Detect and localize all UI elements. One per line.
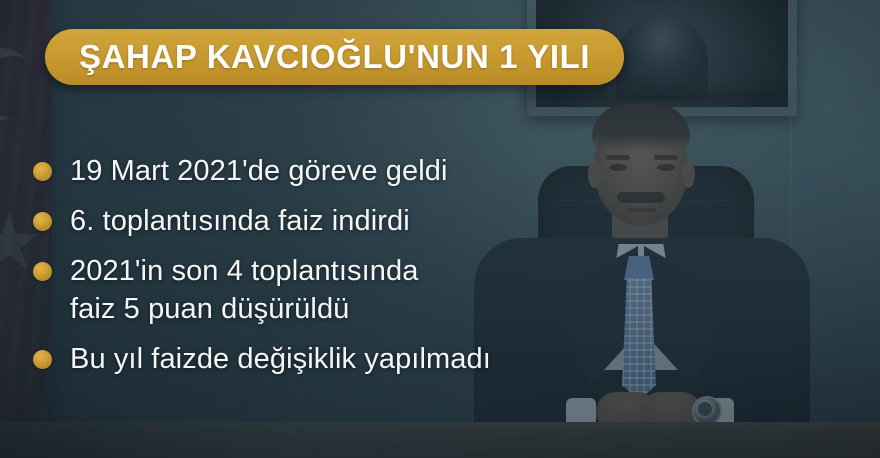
hair bbox=[592, 104, 690, 150]
mouth bbox=[626, 208, 656, 212]
eye-left bbox=[609, 164, 627, 171]
bullet-dot-icon bbox=[33, 262, 52, 281]
bullet-dot-icon bbox=[33, 350, 52, 369]
eyebrow-right bbox=[654, 155, 678, 160]
list-item-text: 6. toplantısında faiz indirdi bbox=[70, 202, 410, 240]
list-item-text: Bu yıl faizde değişiklik yapılmadı bbox=[70, 340, 491, 378]
list-item-line: 2021'in son 4 toplantısında bbox=[70, 252, 418, 290]
list-item-line: faiz 5 puan düşürüldü bbox=[70, 290, 418, 328]
bullet-dot-icon bbox=[33, 212, 52, 231]
infographic-card: ŞAHAP KAVCIOĞLU'NUN 1 YILI 19 Mart 2021'… bbox=[0, 0, 880, 458]
list-item-line: 6. toplantısında faiz indirdi bbox=[70, 202, 410, 240]
ear-left bbox=[588, 160, 601, 188]
list-item: 6. toplantısında faiz indirdi bbox=[33, 202, 533, 240]
page-title: ŞAHAP KAVCIOĞLU'NUN 1 YILI bbox=[79, 38, 590, 76]
list-item: 19 Mart 2021'de göreve geldi bbox=[33, 152, 533, 190]
necktie bbox=[622, 278, 656, 400]
desk-sheen bbox=[0, 422, 880, 458]
bullet-list: 19 Mart 2021'de göreve geldi 6. toplantı… bbox=[33, 152, 533, 390]
wristwatch-face bbox=[698, 402, 712, 416]
headline-banner: ŞAHAP KAVCIOĞLU'NUN 1 YILI bbox=[45, 29, 624, 85]
mustache bbox=[617, 192, 665, 203]
eye-right bbox=[657, 164, 675, 171]
list-item: Bu yıl faizde değişiklik yapılmadı bbox=[33, 340, 533, 378]
list-item-line: 19 Mart 2021'de göreve geldi bbox=[70, 152, 448, 190]
list-item-line: Bu yıl faizde değişiklik yapılmadı bbox=[70, 340, 491, 378]
ear-right bbox=[682, 160, 695, 188]
eyebrow-left bbox=[606, 155, 630, 160]
bullet-dot-icon bbox=[33, 162, 52, 181]
list-item-text: 2021'in son 4 toplantısında faiz 5 puan … bbox=[70, 252, 418, 328]
list-item-text: 19 Mart 2021'de göreve geldi bbox=[70, 152, 448, 190]
list-item: 2021'in son 4 toplantısında faiz 5 puan … bbox=[33, 252, 533, 328]
tie-knot bbox=[624, 256, 654, 280]
